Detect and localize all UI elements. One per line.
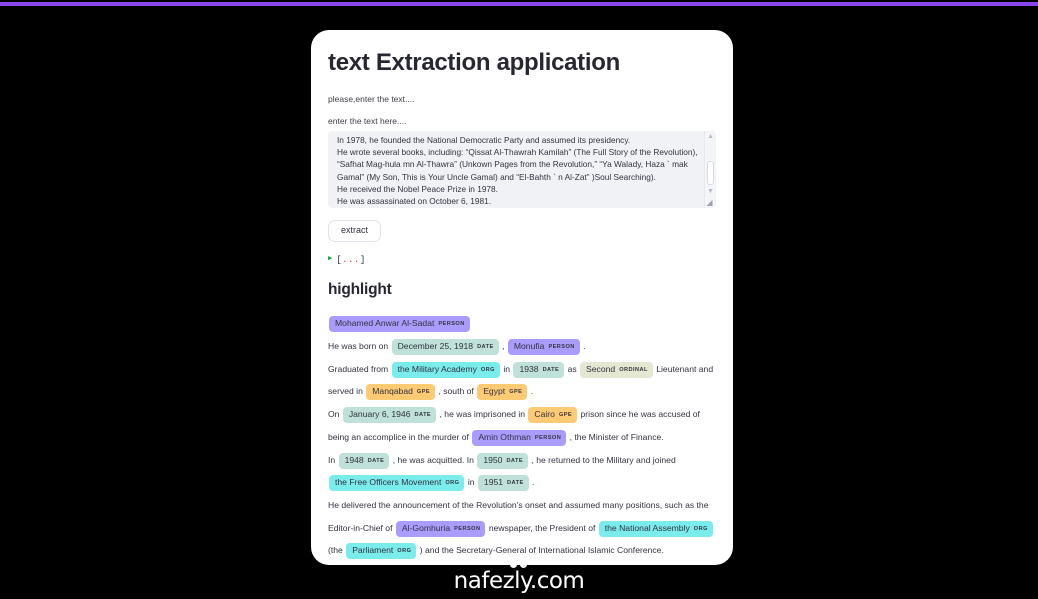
entity-text: the Free Officers Movement	[335, 477, 441, 487]
entity-text: 1938	[519, 364, 538, 374]
plain-text: in	[501, 364, 512, 374]
plain-text: .	[581, 341, 586, 351]
entity-gpe: EgyptGPE	[477, 384, 527, 400]
entity-text: Amin Othman	[478, 432, 531, 442]
plain-text: , he was imprisoned in	[437, 409, 527, 419]
entity-label: DATE	[368, 458, 385, 464]
entity-text: Mohamed Anwar Al-Sadat	[335, 318, 434, 328]
plain-text: , south of	[436, 386, 476, 396]
plain-text: .	[530, 477, 535, 487]
ner-paragraph: He was born on December 25, 1918DATE , M…	[328, 335, 720, 358]
entity-person: Mohamed Anwar Al-SadatPERSON	[329, 316, 470, 332]
entity-date: 1950DATE	[477, 453, 528, 469]
entity-text: Cairo	[534, 409, 555, 419]
plain-text: newspaper, the President of	[486, 523, 597, 533]
entity-person: Amin OthmanPERSON	[472, 430, 566, 446]
entity-org: the Free Officers MovementORG	[329, 475, 464, 491]
entity-org: ParliamentORG	[346, 543, 416, 559]
entity-date: January 6, 1946DATE	[343, 407, 436, 423]
plain-text: He was born on	[328, 341, 391, 351]
scrollbar-up-arrow-icon[interactable]: ▲	[705, 132, 716, 142]
plain-text: Graduated from	[328, 364, 391, 374]
json-ellipsis: ...	[342, 255, 360, 265]
entity-text: Monufia	[514, 341, 545, 351]
ner-paragraph: He was elected President of the Federal …	[328, 562, 720, 565]
ner-paragraph: In 1948DATE , he was acquitted. In 1950D…	[328, 449, 720, 494]
entity-text: Second	[586, 364, 615, 374]
plain-text: as	[565, 364, 579, 374]
plain-text: ,	[500, 341, 507, 351]
scrollbar-thumb[interactable]	[707, 161, 714, 185]
entity-label: DATE	[415, 412, 432, 418]
entity-text: the Military Academy	[398, 364, 477, 374]
text-input-container: In 1978, he founded the National Democra…	[328, 131, 716, 208]
plain-text: , the Minister of Finance.	[567, 432, 663, 442]
entity-gpe: ManqabadGPE	[366, 384, 435, 400]
entity-label: GPE	[509, 389, 522, 395]
json-result-value: [...]	[336, 255, 366, 265]
entity-text: the National Assembly	[605, 523, 690, 533]
entity-label: DATE	[506, 458, 523, 464]
entity-label: DATE	[507, 480, 524, 486]
plain-text: in	[465, 477, 476, 487]
ner-paragraph: Graduated from the Military AcademyORG i…	[328, 358, 720, 403]
plain-text: , he returned to the Military and joined	[529, 455, 676, 465]
entity-label: ORG	[481, 367, 495, 373]
entity-label: ORG	[694, 526, 708, 532]
entity-date: 1948DATE	[339, 453, 390, 469]
entity-label: PERSON	[548, 344, 574, 350]
entity-label: ORDINAL	[619, 367, 648, 373]
entity-person: MonufiaPERSON	[508, 339, 580, 355]
ner-paragraph: He delivered the announcement of the Rev…	[328, 494, 720, 562]
entity-text: Al-Gomhuria	[402, 523, 450, 533]
entity-label: DATE	[477, 344, 494, 350]
json-close-bracket: ]	[360, 255, 366, 265]
plain-text: ) and the Secretary-General of Internati…	[417, 545, 663, 555]
entity-ordinal: SecondORDINAL	[580, 362, 653, 378]
entity-text: 1950	[483, 455, 502, 465]
ner-paragraph: On January 6, 1946DATE , he was imprison…	[328, 403, 720, 448]
top-accent-bar	[0, 2, 1038, 6]
entity-text: Manqabad	[372, 386, 413, 396]
extract-button[interactable]: extract	[328, 220, 381, 242]
card-content: text Extraction application please,enter…	[311, 30, 733, 565]
entity-label: DATE	[543, 367, 560, 373]
page-title: text Extraction application	[328, 49, 716, 78]
json-result-viewer[interactable]: ▶ [...]	[328, 255, 716, 265]
entity-person: Al-GomhuriaPERSON	[396, 521, 486, 537]
prompt-label: please,enter the text....	[328, 94, 716, 105]
entity-text: 1951	[484, 477, 503, 487]
entity-text: 1948	[345, 455, 364, 465]
scrollbar-down-arrow-icon[interactable]: ▼	[705, 187, 716, 197]
expand-triangle-icon[interactable]: ▶	[328, 256, 332, 263]
entity-label: ORG	[445, 480, 459, 486]
entity-text: Egypt	[483, 386, 505, 396]
entity-label: PERSON	[535, 435, 561, 441]
plain-text: , he was acquitted. In	[390, 455, 476, 465]
entity-date: 1938DATE	[513, 362, 564, 378]
textarea-label: enter the text here....	[328, 116, 716, 127]
entity-text: January 6, 1946	[349, 409, 411, 419]
resize-handle-icon[interactable]: ◢	[704, 197, 715, 208]
entity-label: PERSON	[454, 526, 480, 532]
entity-text: Parliament	[352, 545, 393, 555]
highlight-heading: highlight	[328, 281, 716, 299]
watermark-text: nafezly.com	[454, 568, 585, 594]
plain-text: (the	[328, 545, 345, 555]
entity-label: ORG	[397, 548, 411, 554]
entity-org: the National AssemblyORG	[599, 521, 713, 537]
plain-text: .	[528, 386, 533, 396]
entity-label: GPE	[417, 389, 430, 395]
entity-gpe: CairoGPE	[528, 407, 577, 423]
app-card: text Extraction application please,enter…	[311, 30, 733, 565]
entity-text: December 25, 1918	[398, 341, 473, 351]
plain-text: On	[328, 409, 342, 419]
entity-date: 1951DATE	[478, 475, 529, 491]
ner-paragraph: Mohamed Anwar Al-SadatPERSON	[328, 312, 720, 335]
entity-org: the Military AcademyORG	[392, 362, 500, 378]
entity-label: GPE	[559, 412, 572, 418]
entity-date: December 25, 1918DATE	[392, 339, 499, 355]
ner-highlight-output: Mohamed Anwar Al-SadatPERSONHe was born …	[328, 312, 720, 565]
text-input[interactable]: In 1978, he founded the National Democra…	[328, 131, 716, 208]
plain-text: In	[328, 455, 338, 465]
entity-label: PERSON	[438, 321, 464, 327]
watermark: nafezly.com	[0, 561, 1038, 593]
